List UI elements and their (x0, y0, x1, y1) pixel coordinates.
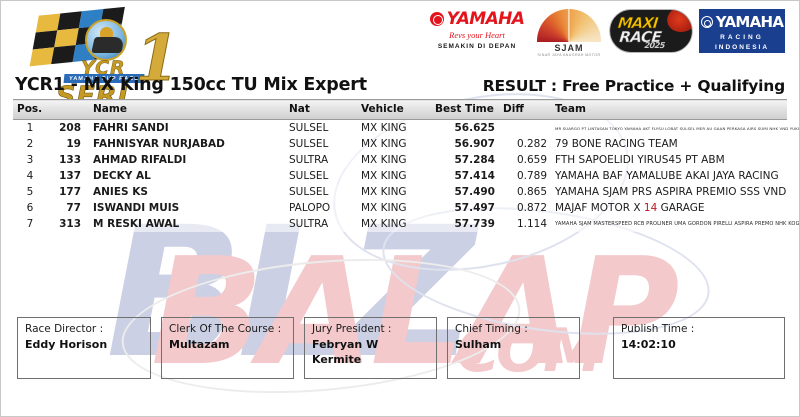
official-box-clerk-of-the-course: Clerk Of The Course : Multazam (161, 317, 294, 379)
column-header-name[interactable]: Name (89, 100, 285, 120)
cell-number: 208 (47, 120, 89, 137)
column-header-number[interactable] (47, 100, 89, 120)
cell-rider-name: M RESKI AWAL (89, 216, 285, 232)
yamaha-racing-line3: INDONESIA (715, 44, 769, 51)
official-value: Eddy Horison (25, 337, 143, 352)
official-label: Race Director : (25, 322, 143, 336)
cell-vehicle: MX KING (357, 216, 431, 232)
cell-vehicle: MX KING (357, 184, 431, 200)
rider-icon (85, 19, 127, 61)
cell-vehicle: MX KING (357, 200, 431, 216)
cell-diff: 0.789 (499, 168, 551, 184)
official-label: Publish Time : (621, 322, 777, 336)
cell-nat: PALOPO (285, 200, 357, 216)
maxi-race-logo: MAXI RACE 2025 (609, 9, 693, 53)
cell-rider-name: ISWANDI MUIS (89, 200, 285, 216)
officials-footer: Race Director : Eddy Horison Clerk Of Th… (1, 317, 800, 389)
column-header-vehicle[interactable]: Vehicle (357, 100, 431, 120)
cell-number: 133 (47, 152, 89, 168)
cell-best-time: 57.414 (431, 168, 499, 184)
cell-rider-name: DECKY AL (89, 168, 285, 184)
official-value: Febryan W Kermite (312, 337, 429, 367)
official-box-chief-timing: Chief Timing : Sulham (447, 317, 580, 379)
cell-nat: SULTRA (285, 152, 357, 168)
column-header-best-time[interactable]: Best Time (431, 100, 499, 120)
cell-team: MAJAF MOTOR X 14 GARAGE (551, 200, 787, 216)
official-label: Jury President : (312, 322, 429, 336)
table-row[interactable]: 7313M RESKI AWALSULTRAMX KING57.7391.114… (13, 216, 787, 232)
cell-position: 3 (13, 152, 47, 168)
result-type-label: RESULT : Free Practice + Qualifying (483, 77, 785, 95)
cell-rider-name: ANIES KS (89, 184, 285, 200)
title-row: YCR1 - MX King 150cc TU Mix Expert RESUL… (1, 67, 799, 97)
cell-number: 19 (47, 136, 89, 152)
logo-band: YCR YAMAHA CUP RACE SERI 1 YAMAHA Revs y… (1, 1, 799, 67)
cell-nat: SULTRA (285, 216, 357, 232)
official-box-race-director: Race Director : Eddy Horison (17, 317, 151, 379)
cell-team: YAMAHA BAF YAMALUBE AKAI JAYA RACING (551, 168, 787, 184)
table-row[interactable]: 5177ANIES KSSULSELMX KING57.4900.865YAMA… (13, 184, 787, 200)
maxi-year: 2025 (644, 41, 665, 50)
cell-best-time: 56.907 (431, 136, 499, 152)
table-row[interactable]: 4137DECKY ALSULSELMX KING57.4140.789YAMA… (13, 168, 787, 184)
yamaha-wordmark: YAMAHA (447, 9, 525, 29)
cell-best-time: 56.625 (431, 120, 499, 137)
footer-spacer (590, 317, 603, 389)
yamaha-tagline: Revs your Heart (425, 30, 529, 40)
cell-team: YAMAHA SJAM MASTERSPEED RCB PROLINER UMA… (551, 216, 787, 232)
table-row[interactable]: 1208FAHRI SANDISULSELMX KING56.625MR SUA… (13, 120, 787, 137)
cell-number: 77 (47, 200, 89, 216)
cell-number: 313 (47, 216, 89, 232)
official-label: Chief Timing : (455, 322, 572, 336)
table-row[interactable]: 219FAHNISYAR NURJABADSULSELMX KING56.907… (13, 136, 787, 152)
cell-team: YAMAHA SJAM PRS ASPIRA PREMIO SSS VND (551, 184, 787, 200)
result-sheet: BLZ BALAP COM YCR YA (0, 0, 800, 417)
cell-diff: 1.114 (499, 216, 551, 232)
official-box-publish-time: Publish Time : 14:02:10 (613, 317, 785, 379)
cell-team: MR SUARGO PT LINTASAN TOKYO YAMAHA AKT F… (551, 120, 787, 137)
official-label: Clerk Of The Course : (169, 322, 286, 336)
cell-vehicle: MX KING (357, 152, 431, 168)
cell-nat: SULSEL (285, 168, 357, 184)
official-box-jury-president: Jury President : Febryan W Kermite (304, 317, 437, 379)
yamaha-racing-tuning-fork-icon (701, 16, 713, 28)
column-header-nat[interactable]: Nat (285, 100, 357, 120)
sjam-wordmark: SJAM (535, 43, 603, 53)
sjam-subtitle: SINAR JAYA ANUGRAH MOTOR (535, 53, 603, 57)
cell-nat: SULSEL (285, 184, 357, 200)
cell-diff: 0.659 (499, 152, 551, 168)
results-table-body: 1208FAHRI SANDISULSELMX KING56.625MR SUA… (13, 120, 787, 233)
cell-vehicle: MX KING (357, 136, 431, 152)
cell-diff (499, 120, 551, 137)
cell-best-time: 57.490 (431, 184, 499, 200)
cell-diff: 0.282 (499, 136, 551, 152)
maxi-helmet-icon (666, 9, 695, 32)
sjam-logo: SJAM SINAR JAYA ANUGRAH MOTOR (535, 9, 603, 57)
official-value: 14:02:10 (621, 337, 777, 352)
cell-position: 1 (13, 120, 47, 137)
table-row[interactable]: 3133AHMAD RIFALDISULTRAMX KING57.2840.65… (13, 152, 787, 168)
yamaha-racing-wordmark: YAMAHA (716, 13, 784, 31)
sjam-fan-icon (537, 9, 601, 42)
cell-diff: 0.872 (499, 200, 551, 216)
cell-position: 7 (13, 216, 47, 232)
cell-best-time: 57.739 (431, 216, 499, 232)
cell-nat: SULSEL (285, 120, 357, 137)
cell-position: 5 (13, 184, 47, 200)
cell-number: 137 (47, 168, 89, 184)
page-title: YCR1 - MX King 150cc TU Mix Expert (15, 75, 367, 95)
cell-vehicle: MX KING (357, 120, 431, 137)
yamaha-racing-indonesia-logo: YAMAHA RACING INDONESIA (699, 9, 785, 53)
column-header-diff[interactable]: Diff (499, 100, 551, 120)
cell-position: 2 (13, 136, 47, 152)
results-table: Pos. Name Nat Vehicle Best Time Diff Tea… (13, 99, 787, 232)
cell-diff: 0.865 (499, 184, 551, 200)
cell-team: 79 BONE RACING TEAM (551, 136, 787, 152)
official-value: Multazam (169, 337, 286, 352)
cell-best-time: 57.284 (431, 152, 499, 168)
cell-position: 4 (13, 168, 47, 184)
results-table-header: Pos. Name Nat Vehicle Best Time Diff Tea… (13, 100, 787, 120)
column-header-pos[interactable]: Pos. (13, 100, 47, 120)
cell-nat: SULSEL (285, 136, 357, 152)
cell-team: FTH SAPOELIDI YIRUS45 PT ABM (551, 152, 787, 168)
cell-rider-name: FAHNISYAR NURJABAD (89, 136, 285, 152)
yamaha-racing-line2: RACING (720, 34, 764, 41)
official-value: Sulham (455, 337, 572, 352)
cell-number: 177 (47, 184, 89, 200)
yamaha-semakin-logo: YAMAHA Revs your Heart SEMAKIN DI DEPAN (425, 9, 529, 50)
column-header-team[interactable]: Team (551, 100, 787, 120)
cell-best-time: 57.497 (431, 200, 499, 216)
cell-position: 6 (13, 200, 47, 216)
yamaha-subtitle: SEMAKIN DI DEPAN (425, 43, 529, 50)
cell-rider-name: AHMAD RIFALDI (89, 152, 285, 168)
cell-vehicle: MX KING (357, 168, 431, 184)
cell-rider-name: FAHRI SANDI (89, 120, 285, 137)
yamaha-tuning-fork-icon (430, 12, 444, 26)
table-row[interactable]: 677ISWANDI MUISPALOPOMX KING57.4970.872M… (13, 200, 787, 216)
table-header-row: Pos. Name Nat Vehicle Best Time Diff Tea… (13, 100, 787, 120)
